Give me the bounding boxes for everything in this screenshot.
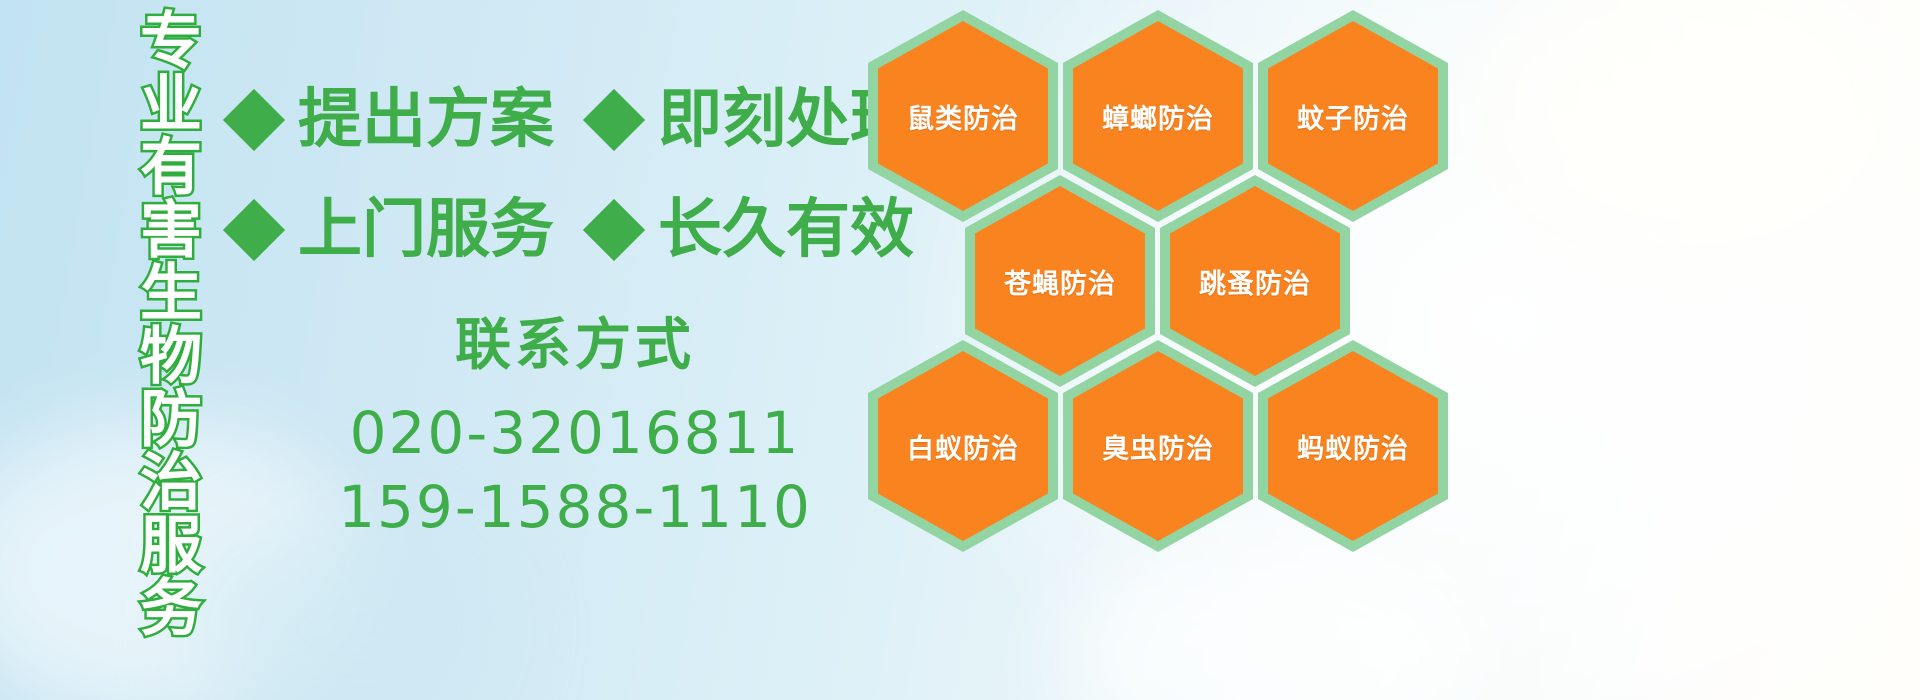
vertical-headline: 专业有害生物防治服务 [104, 8, 196, 638]
diamond-marker-icon [223, 89, 285, 151]
feature-item: 上门服务 [232, 198, 592, 262]
service-label: 蟑螂防治 [1102, 97, 1214, 136]
service-hex-termite[interactable]: 白蚁防治 [868, 340, 1058, 552]
feature-label: 上门服务 [298, 198, 554, 262]
service-hex-bedbug[interactable]: 臭虫防治 [1063, 340, 1253, 552]
service-label: 白蚁防治 [907, 427, 1019, 466]
service-label: 苍蝇防治 [1004, 262, 1116, 301]
phone-number-mobile[interactable]: 159-1588-1110 [310, 470, 840, 544]
feature-label: 提出方案 [298, 88, 554, 152]
promo-banner: 专业有害生物防治服务 提出方案 即刻处理 上门服务 长久有效 联系方式 020-… [0, 0, 1920, 700]
service-label: 蚂蚁防治 [1297, 427, 1409, 466]
contact-title: 联系方式 [310, 318, 840, 374]
service-label: 蚊子防治 [1297, 97, 1409, 136]
service-label: 鼠类防治 [907, 97, 1019, 136]
phone-number-landline[interactable]: 020-32016811 [310, 396, 840, 470]
diamond-marker-icon [583, 199, 645, 261]
feature-row-1: 提出方案 即刻处理 [232, 88, 914, 152]
diamond-marker-icon [223, 199, 285, 261]
service-label: 跳蚤防治 [1199, 262, 1311, 301]
feature-item: 提出方案 [232, 88, 592, 152]
service-hex-ant[interactable]: 蚂蚁防治 [1258, 340, 1448, 552]
feature-row-2: 上门服务 长久有效 [232, 198, 914, 262]
service-honeycomb: 鼠类防治 蟑螂防治 蚊子防治 苍蝇防治 跳蚤防治 [860, 0, 1460, 580]
background-blur-blob [1480, 0, 1900, 260]
service-label: 臭虫防治 [1102, 427, 1214, 466]
contact-block: 联系方式 020-32016811 159-1588-1110 [310, 318, 840, 544]
background-blur-blob [200, 520, 500, 700]
diamond-marker-icon [583, 89, 645, 151]
